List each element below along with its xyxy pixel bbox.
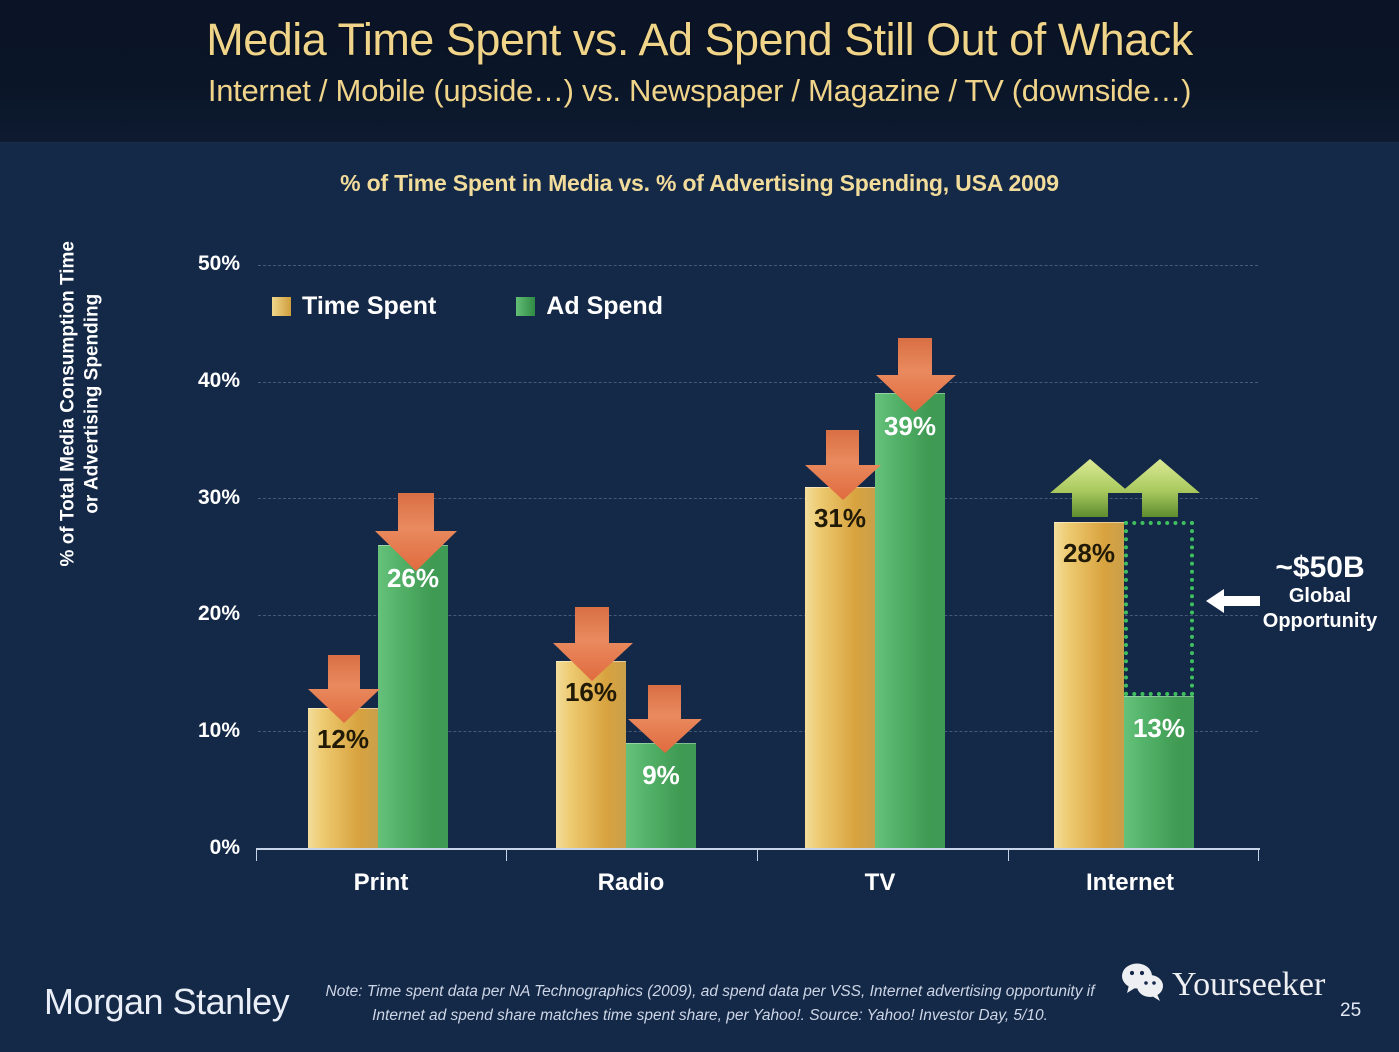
bar-label-tv-time-spent: 31% [805,503,875,534]
morgan-stanley-logo: Morgan Stanley [44,981,289,1023]
x-axis-label-internet: Internet [1010,869,1250,897]
x-axis-tick-1 [506,848,507,861]
legend-item-time-spent[interactable]: Time Spent [272,292,436,321]
chart-plot-area: 12% 26% 16% 9% 31% 39% 28% 13% [258,265,1258,848]
bar-tv-time-spent[interactable]: 31% [805,487,875,849]
arrow-down-print-time-spent [306,655,382,730]
arrow-up-internet-ad-spend [1118,459,1202,524]
y-tick-10: 10% [160,719,240,743]
page-title: Media Time Spent vs. Ad Spend Still Out … [0,14,1399,66]
legend-swatch-icon-ad-spend [516,297,535,316]
x-axis-tick-4 [1258,848,1259,861]
gridline-40 [258,382,1258,383]
bar-internet-ad-spend[interactable]: 13% [1124,696,1194,848]
y-axis-title-line1: % of Total Media Consumption Time [57,241,78,566]
page-subtitle: Internet / Mobile (upside…) vs. Newspape… [0,73,1399,109]
y-tick-20: 20% [160,602,240,626]
gridline-50 [258,265,1258,266]
bar-label-internet-ad-spend: 13% [1124,713,1194,744]
x-axis-tick-0 [256,848,257,861]
bar-print-ad-spend[interactable]: 26% [378,545,448,848]
arrow-down-print-ad-spend [373,493,459,578]
x-axis-tick-2 [757,848,758,861]
opportunity-line2: Opportunity [1240,609,1399,634]
page-number: 25 [1340,1000,1361,1022]
bar-label-internet-time-spent: 28% [1054,538,1124,569]
watermark: Yourseeker [1120,962,1325,1007]
footnote-line2: spend share matches time spent share, pe… [451,1007,1048,1024]
arrow-down-tv-ad-spend [874,338,958,419]
x-axis-line [256,848,1260,850]
footnote: Note: Time spent data per NA Technograph… [310,980,1110,1028]
wechat-icon [1120,962,1166,1007]
chart-title: % of Time Spent in Media vs. % of Advert… [0,170,1399,197]
y-tick-50: 50% [160,252,240,276]
bar-tv-ad-spend[interactable]: 39% [875,393,945,848]
chart-legend: Time Spent Ad Spend [272,292,663,321]
y-tick-30: 30% [160,486,240,510]
y-axis-title: % of Total Media Consumption Time or Adv… [56,184,104,624]
legend-swatch-icon-time-spent [272,297,291,316]
legend-item-ad-spend[interactable]: Ad Spend [516,292,663,321]
arrow-down-radio-ad-spend [626,685,704,760]
bar-radio-time-spent[interactable]: 16% [556,661,626,848]
opportunity-annotation: ~$50B Global Opportunity [1240,552,1399,634]
x-axis-label-tv: TV [760,869,1000,897]
legend-label-ad-spend: Ad Spend [546,292,663,321]
watermark-text: Yourseeker [1172,966,1325,1004]
y-axis-title-line2: or Advertising Spending [81,294,102,514]
x-axis-tick-3 [1008,848,1009,861]
y-tick-40: 40% [160,369,240,393]
opportunity-line1: Global [1240,584,1399,609]
x-axis-label-radio: Radio [511,869,751,897]
x-axis-label-print: Print [261,869,501,897]
bar-internet-time-spent[interactable]: 28% [1054,522,1124,849]
opportunity-gap-box [1124,521,1194,696]
y-tick-0: 0% [160,836,240,860]
bar-label-radio-ad-spend: 9% [626,760,696,791]
arrow-down-tv-time-spent [803,430,883,507]
legend-label-time-spent: Time Spent [302,292,436,321]
arrow-down-radio-time-spent [551,607,635,688]
opportunity-amount: ~$50B [1240,552,1399,584]
